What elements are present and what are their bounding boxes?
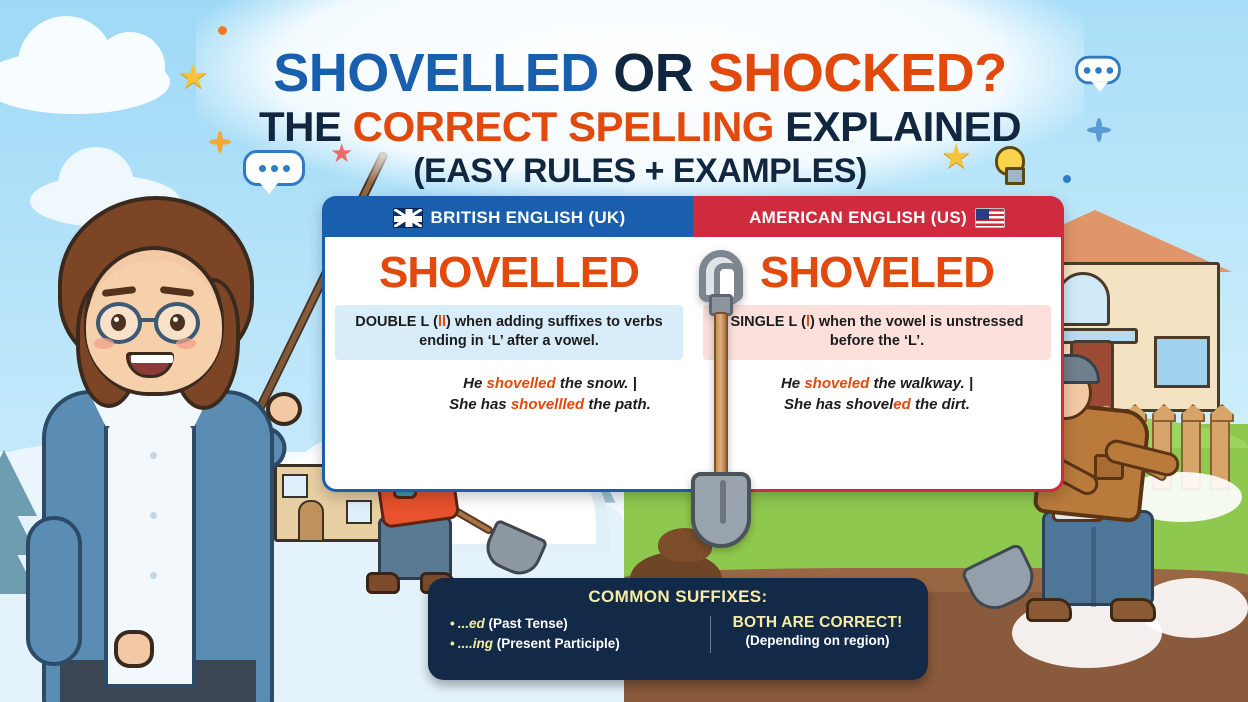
verdict-block: BOTH ARE CORRECT! (Depending on region) [723,614,912,655]
example-uk-2-post: the path. [584,396,651,413]
panel-british-english[interactable]: BRITISH ENGLISH (UK) SHOVELLED DOUBLE L … [322,196,693,492]
subtitle-part-explained: EXPLAINED [785,103,1021,150]
spelling-rule-uk: DOUBLE L (ll) when adding suffixes to ve… [335,305,683,360]
panel-header-us: AMERICAN ENGLISH (US) [693,199,1061,237]
example-us-2-post: the dirt. [911,396,970,413]
lightbulb-icon [995,146,1025,176]
bullet-icon: • [450,636,455,651]
star-icon: ★ [941,140,971,174]
dot-icon [1063,175,1071,183]
infographic-canvas: SHOVELLED OR SHOCKED? THE CORRECT SPELLI… [0,0,1248,702]
examples-uk: He shovelled the snow. | She has shovell… [325,374,693,415]
common-suffixes-title: COMMON SUFFIXES: [444,587,912,607]
example-us-2-word: ed [893,396,911,413]
suffix-list-item: •....ing (Present Participle) [450,634,706,654]
subtitle-part-correct-spelling: CORRECT SPELLING [353,103,786,150]
panel-header-label-us: AMERICAN ENGLISH (US) [749,208,967,228]
star-icon: ★ [178,60,208,94]
suffix-note-ed: (Past Tense) [485,616,568,631]
rule-uk-pre: DOUBLE L ( [355,314,438,330]
suffix-note-ing: (Present Participle) [493,636,620,651]
verdict-note: (Depending on region) [723,633,912,648]
example-uk-1-post: the snow. | [556,375,637,392]
bullet-icon: • [450,616,455,631]
union-jack-flag-icon [393,208,423,228]
rule-us-post: ) when the vowel is unstressed before th… [810,314,1024,349]
stars-and-stripes-flag-icon [975,208,1005,228]
spelling-rule-us: SINGLE L (l) when the vowel is unstresse… [703,305,1051,360]
suffix-text-ed: ...ed [458,616,485,631]
shovel-icon [693,250,749,550]
star-icon: ★ [330,140,353,166]
title-word-or: OR [599,43,708,103]
page-title: SHOVELLED OR SHOCKED? [273,46,1007,100]
panel-header-label-uk: BRITISH ENGLISH (UK) [431,208,626,228]
speech-bubble-icon [243,150,305,186]
sparkle-icon [1087,118,1111,142]
example-us-1-post: the walkway. | [869,375,973,392]
suffix-list-item: •...ed (Past Tense) [450,614,706,634]
spelling-word-uk: SHOVELLED [325,237,693,305]
subtitle: THE CORRECT SPELLING EXPLAINED [259,106,1021,148]
example-uk-2-pre: She has [449,396,511,413]
example-uk-1-pre: He [463,375,486,392]
teacher-character [8,160,308,702]
example-us-1-pre: He [781,375,804,392]
suffix-text-ing: ....ing [458,636,493,651]
verdict-text: BOTH ARE CORRECT! [723,614,912,632]
common-suffixes-bar: COMMON SUFFIXES: •...ed (Past Tense) •..… [428,578,928,680]
example-us-1-word: shoveled [804,375,869,392]
rule-uk-highlight: ll [438,314,446,330]
example-uk-1-word: shovelled [486,375,555,392]
speech-bubble-icon [1075,56,1121,85]
sparkle-icon [209,131,231,153]
rule-uk-post: ) when adding suffixes to verbs ending i… [419,314,663,349]
vertical-divider [710,616,711,653]
dot-icon [218,26,227,35]
title-word-shovelled: SHOVELLED [273,43,599,103]
example-us-2-pre: She has shovel [784,396,893,413]
example-uk-2-word: shovellled [511,396,584,413]
subtitle-parenthetical: (EASY RULES + EXAMPLES) [413,154,867,188]
panel-header-uk: BRITISH ENGLISH (UK) [325,199,693,237]
suffix-list: •...ed (Past Tense) •....ing (Present Pa… [444,614,706,655]
title-word-shocked: SHOCKED? [708,43,1007,103]
